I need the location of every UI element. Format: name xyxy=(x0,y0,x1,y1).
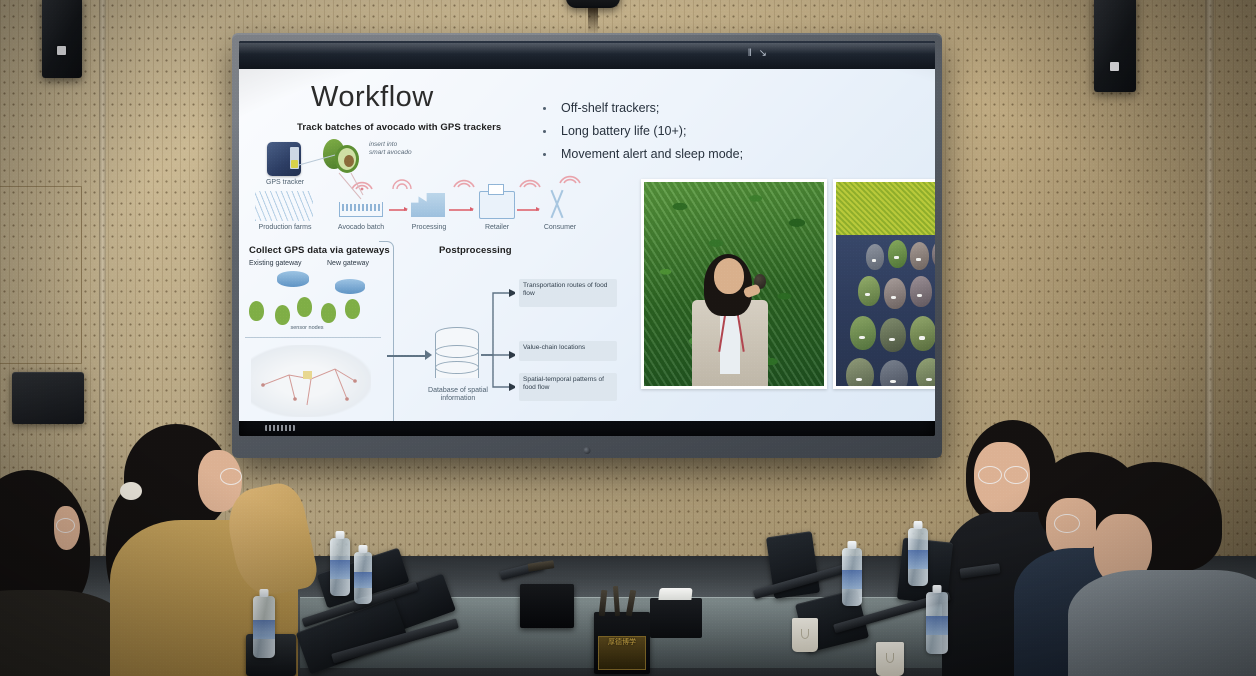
orchard-person-face xyxy=(714,258,744,294)
retailer-icon xyxy=(479,191,515,219)
consumer-icon xyxy=(543,189,573,219)
ceiling-camera xyxy=(566,0,620,8)
screen-glare xyxy=(239,43,935,54)
sensor-nodes-label: sensor nodes xyxy=(279,325,335,331)
conference-room-photo: ‖ ↘ Workflow Off-shelf trackers; Long ba… xyxy=(0,0,1256,676)
speaker-badge-icon xyxy=(1110,62,1119,71)
signal-icon xyxy=(557,169,583,185)
production-farm-icon xyxy=(255,191,313,221)
processing-plant-icon xyxy=(411,193,445,217)
avocado-batch-icon xyxy=(339,202,383,217)
water-bottle[interactable] xyxy=(253,596,275,658)
display-indicator-sensor xyxy=(584,447,591,454)
avocado-sample xyxy=(888,240,907,268)
sensor-node-icon xyxy=(345,299,360,319)
new-gateway-label: New gateway xyxy=(327,260,385,268)
chain-label-processing: Processing xyxy=(407,224,451,232)
output-chip: Value-chain locations xyxy=(519,341,617,361)
signal-icon xyxy=(349,175,375,191)
flow-arrow xyxy=(517,209,539,211)
chain-label-retailer: Retailer xyxy=(475,224,519,232)
output-chip: Transportation routes of food flow xyxy=(519,279,617,307)
existing-gateway-icon xyxy=(277,271,309,287)
water-bottle[interactable] xyxy=(926,592,948,654)
hair-tie xyxy=(120,482,142,500)
flow-arrow xyxy=(389,209,407,211)
flow-connector xyxy=(387,355,427,357)
flow-arrow xyxy=(449,209,473,211)
avocado-sample xyxy=(866,244,884,270)
attendee-right-grey xyxy=(1096,462,1256,676)
paper-cup[interactable] xyxy=(876,642,904,676)
existing-gateway-label: Existing gateway xyxy=(249,260,311,268)
window-controls[interactable]: ‖ ↘ xyxy=(748,48,769,59)
orchard-photo xyxy=(641,179,827,389)
bullet-item: Movement alert and sleep mode; xyxy=(539,147,869,161)
bullet-item: Long battery life (10+); xyxy=(539,124,869,138)
desk-organizer[interactable] xyxy=(520,584,574,628)
plaque-text: 厚德博学 xyxy=(599,637,644,646)
avocado-sample xyxy=(850,316,876,350)
wall-access-panel xyxy=(0,186,82,364)
output-connectors xyxy=(479,269,515,399)
output-chip: Spatial-temporal patterns of food flow xyxy=(519,373,617,401)
signal-icon xyxy=(391,177,413,191)
green-mat xyxy=(836,182,935,235)
speaker-badge-icon xyxy=(57,46,66,55)
avocado-sample xyxy=(846,358,874,386)
pen-holder-plaque: 厚德博学 xyxy=(598,636,645,670)
avocado-sample xyxy=(880,318,906,352)
chain-label-consumer: Consumer xyxy=(537,224,583,232)
gateways-heading: Collect GPS data via gateways xyxy=(249,245,390,256)
insert-note: insert into smart avocado xyxy=(369,141,439,157)
bullet-list: Off-shelf trackers; Long battery life (1… xyxy=(539,101,869,170)
avocado-sample xyxy=(910,316,935,351)
sensor-node-icon xyxy=(321,303,336,323)
avocado-sample xyxy=(910,242,929,270)
transport-network-map xyxy=(251,345,371,417)
pen-holder[interactable]: 厚德博学 xyxy=(594,612,650,674)
gps-tracker-label: GPS tracker xyxy=(261,179,309,187)
water-bottle[interactable] xyxy=(330,538,350,596)
avocado-tray-photo xyxy=(833,179,935,389)
wall-speaker-right xyxy=(1094,0,1136,92)
avocado-sample xyxy=(884,278,906,309)
chain-label-farms: Production farms xyxy=(257,224,313,232)
diagram-heading-top: Track batches of avocado with GPS tracke… xyxy=(297,122,501,133)
avocado-sample xyxy=(910,276,932,307)
avocado-sample xyxy=(880,360,908,386)
postprocessing-heading: Postprocessing xyxy=(439,245,512,256)
paper-cup[interactable] xyxy=(792,618,818,652)
presentation-window-topbar: ‖ ↘ xyxy=(239,41,935,69)
gps-tracker-illustration xyxy=(267,142,301,176)
chain-label-batch: Avocado batch xyxy=(337,224,385,232)
divider xyxy=(245,337,381,338)
database-icon xyxy=(435,327,479,383)
new-gateway-icon xyxy=(335,279,365,294)
water-bottle[interactable] xyxy=(908,528,928,586)
wall-mounted-display[interactable]: ‖ ↘ Workflow Off-shelf trackers; Long ba… xyxy=(232,33,942,458)
tissue-box[interactable] xyxy=(650,598,702,638)
sensor-node-icon xyxy=(275,305,290,325)
slide-title: Workflow xyxy=(311,81,434,114)
display-screen[interactable]: ‖ ↘ Workflow Off-shelf trackers; Long ba… xyxy=(239,41,935,436)
presentation-slide: Workflow Off-shelf trackers; Long batter… xyxy=(239,69,935,421)
bullet-item: Off-shelf trackers; xyxy=(539,101,869,115)
avocado-sample xyxy=(858,276,880,306)
avocado-half-front-icon xyxy=(335,145,359,173)
wall-control-panel[interactable] xyxy=(12,372,84,424)
signal-icon xyxy=(451,173,477,189)
signal-icon xyxy=(517,173,543,189)
sensor-node-icon xyxy=(297,297,312,317)
water-bottle[interactable] xyxy=(842,548,862,606)
water-bottle[interactable] xyxy=(354,552,372,604)
sensor-node-icon xyxy=(249,301,264,321)
flow-arrowhead xyxy=(425,350,432,360)
wall-speaker-left xyxy=(42,0,82,78)
